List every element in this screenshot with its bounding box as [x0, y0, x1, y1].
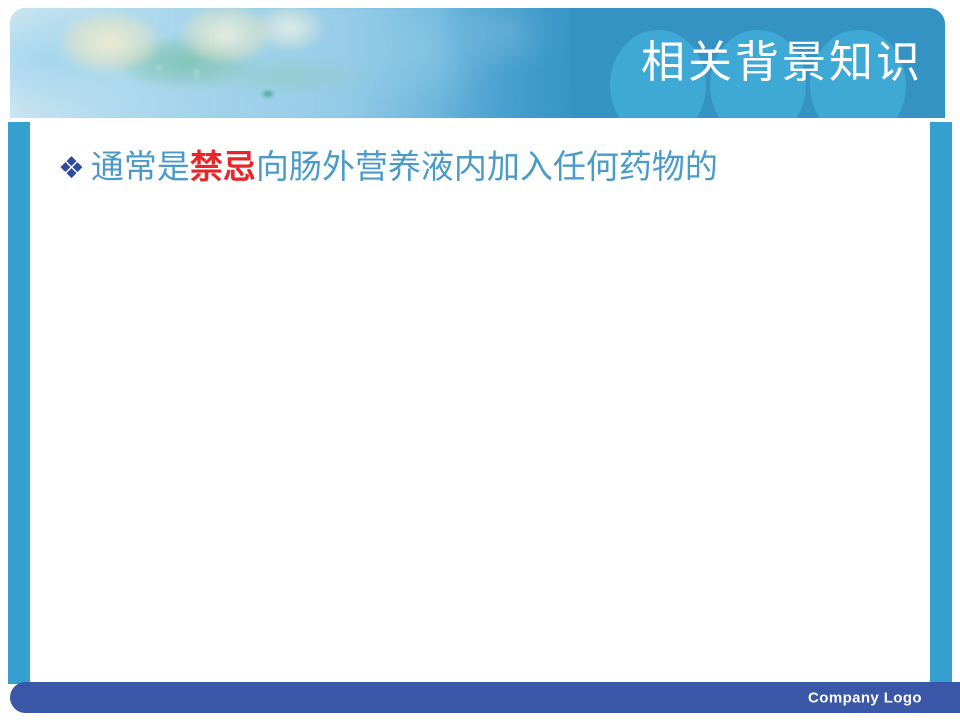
- bullet-text-lead: 通常是: [91, 147, 190, 186]
- right-accent-bar: [930, 122, 952, 684]
- slide-title: 相关背景知识: [641, 41, 923, 85]
- bullet-list-item: ❖ 通常是禁忌向肠外营养液内加入任何药物的: [58, 148, 718, 186]
- left-accent-bar: [8, 122, 30, 684]
- company-logo-label: Company Logo: [808, 689, 922, 706]
- bullet-item-text: 通常是禁忌向肠外营养液内加入任何药物的: [91, 148, 718, 186]
- slide-header: 相关背景知识: [10, 8, 945, 118]
- diamond-bullet-icon: ❖: [58, 154, 85, 184]
- bullet-text-emphasis: 禁忌: [190, 147, 256, 186]
- slide-content-area: ❖ 通常是禁忌向肠外营养液内加入任何药物的: [30, 122, 930, 682]
- slide-footer: Company Logo: [10, 682, 960, 713]
- slide: 相关背景知识 ❖ 通常是禁忌向肠外营养液内加入任何药物的 Company Log…: [0, 0, 960, 720]
- bullet-text-tail: 向肠外营养液内加入任何药物的: [256, 147, 718, 186]
